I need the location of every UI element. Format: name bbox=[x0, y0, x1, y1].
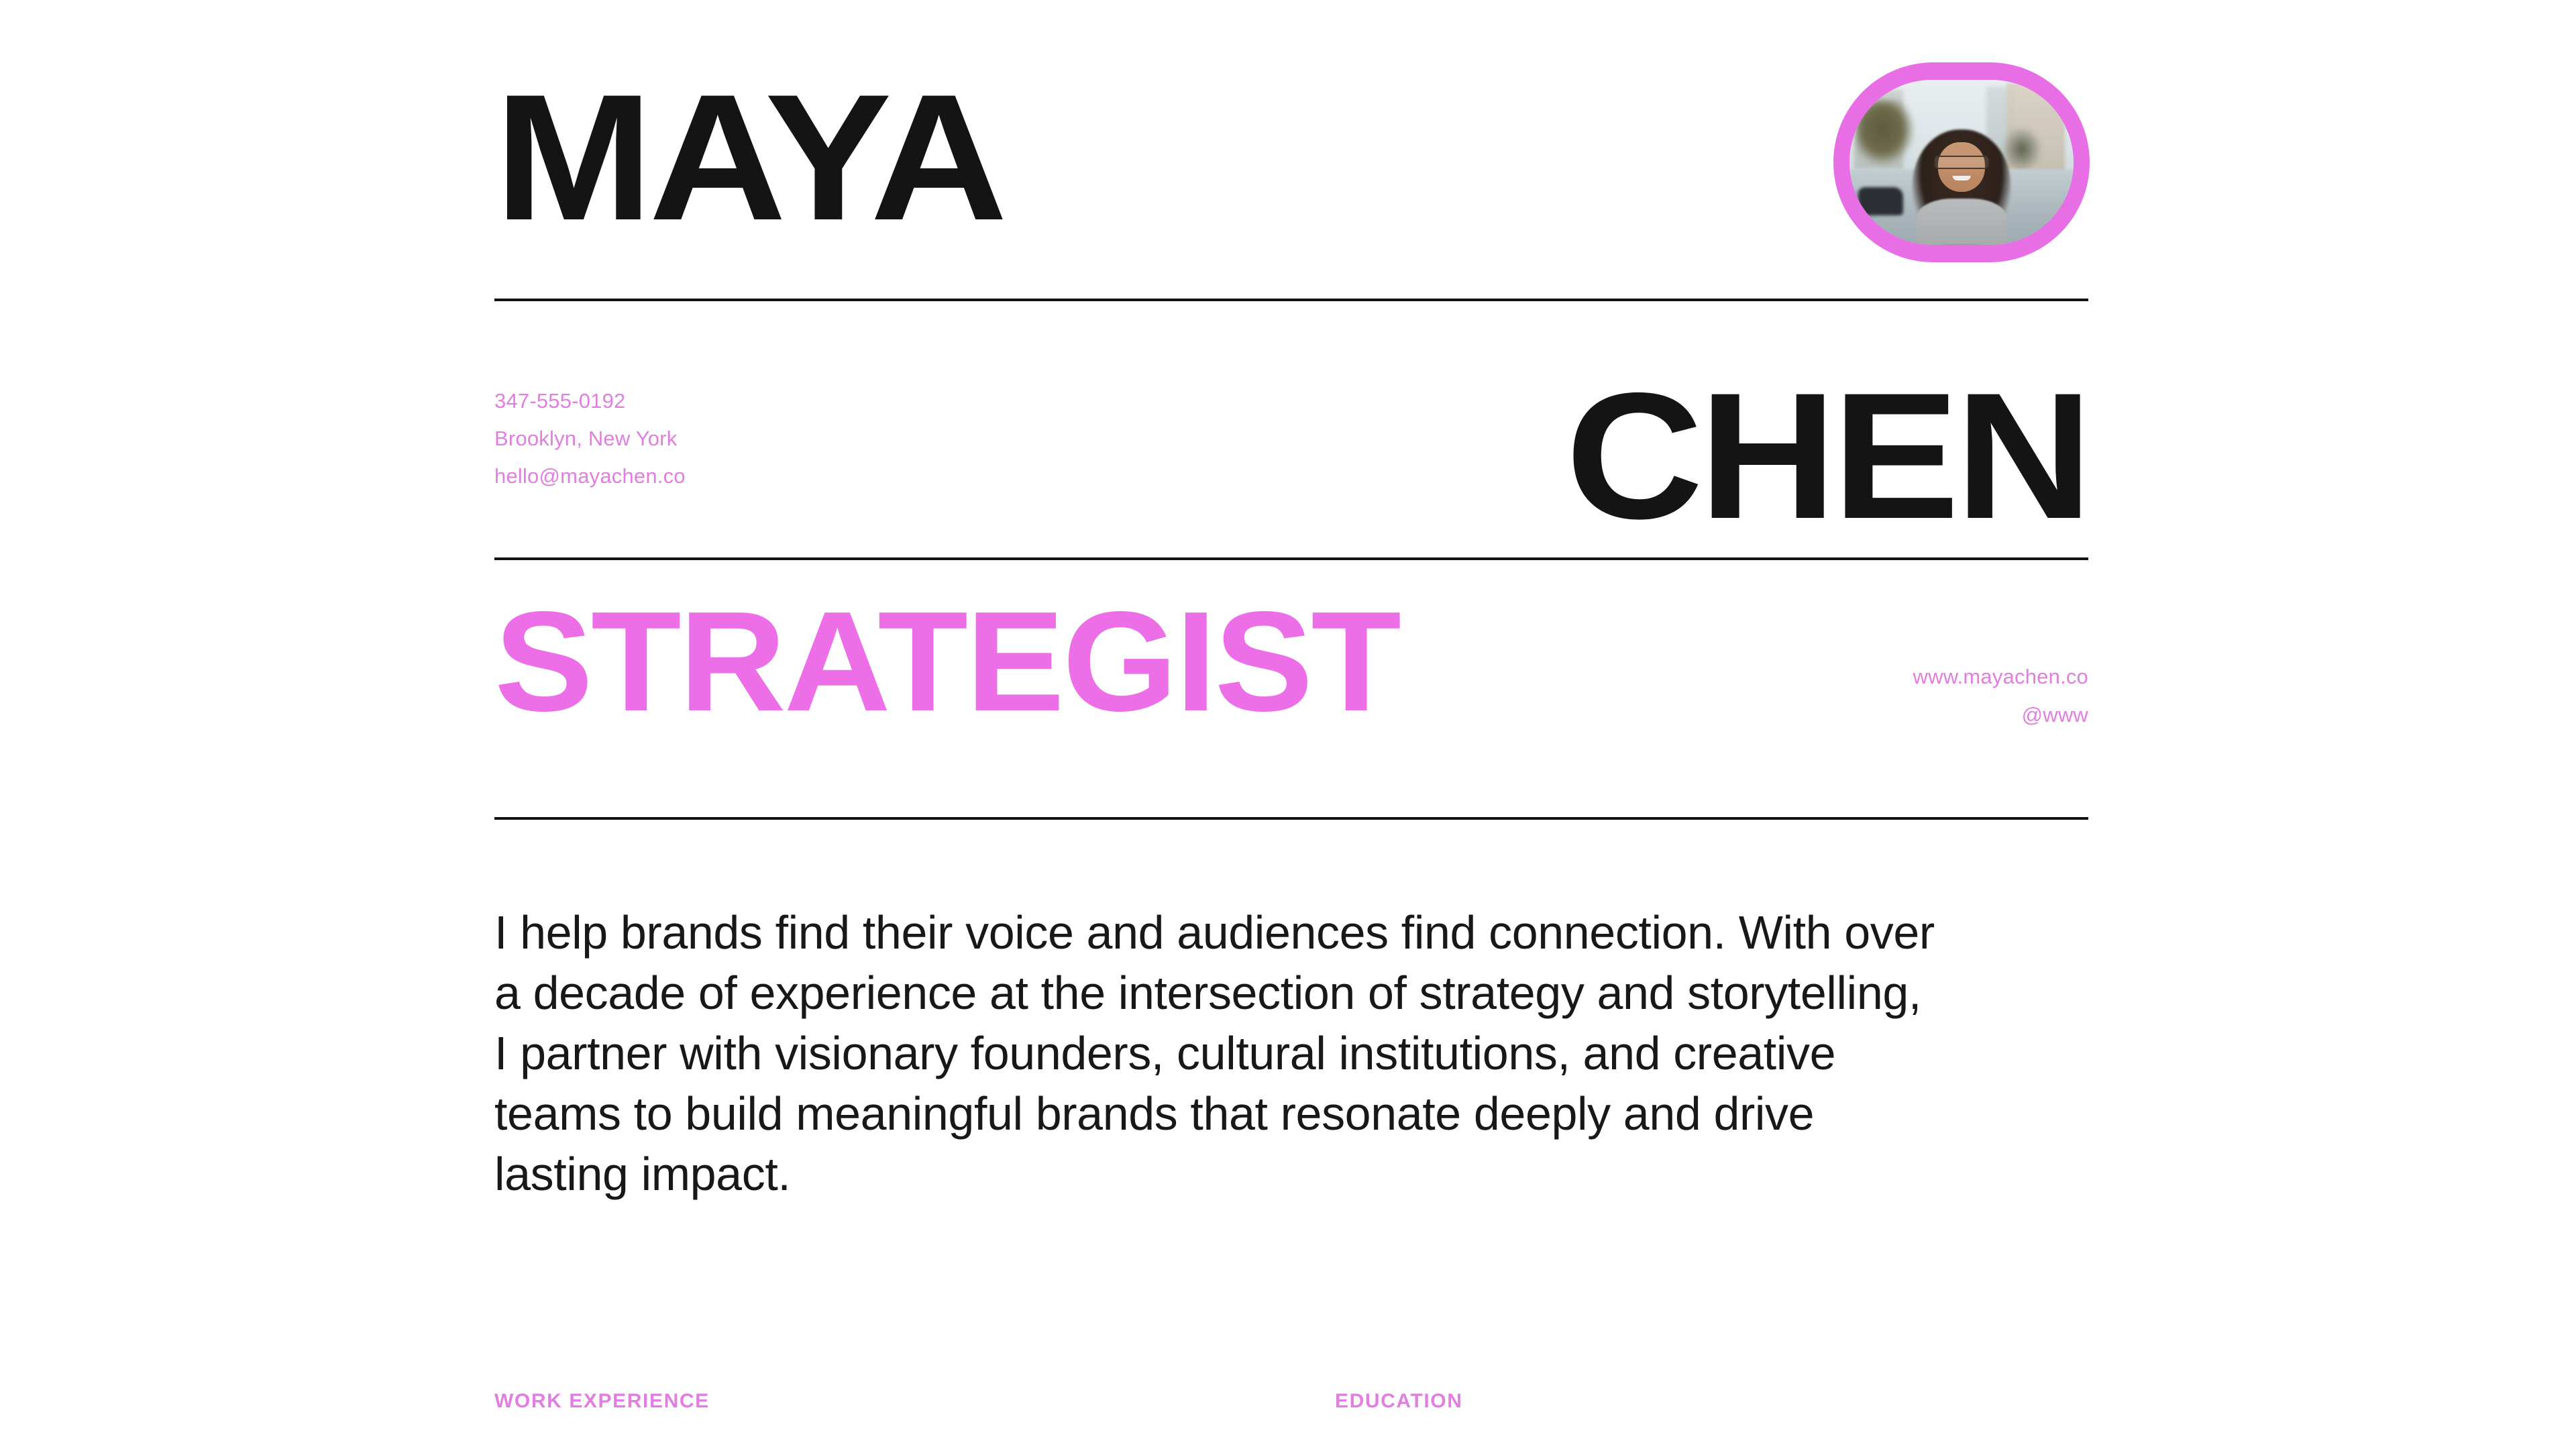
contact-location: Brooklyn, New York bbox=[494, 420, 686, 458]
divider-2 bbox=[494, 557, 2088, 560]
summary-line: lasting impact. bbox=[494, 1144, 2101, 1204]
photo-torso bbox=[1917, 199, 2006, 245]
contact-row: 347-555-0192 Brooklyn, New York hello@ma… bbox=[494, 372, 2088, 547]
resume-page: MAYA 347-555-0192 Brooklyn, New York h bbox=[0, 0, 2576, 1449]
glasses-icon bbox=[1935, 156, 1989, 169]
first-name-heading: MAYA bbox=[494, 67, 1004, 247]
link-website[interactable]: www.mayachen.co bbox=[1913, 657, 2088, 696]
photo-tree-right bbox=[2002, 126, 2042, 172]
summary-line: I help brands find their voice and audie… bbox=[494, 902, 2101, 963]
avatar[interactable] bbox=[1833, 62, 2090, 262]
contact-email[interactable]: hello@mayachen.co bbox=[494, 458, 686, 495]
divider-3 bbox=[494, 817, 2088, 820]
photo-tree-left bbox=[1856, 100, 1915, 166]
contact-phone[interactable]: 347-555-0192 bbox=[494, 382, 686, 420]
role-row: STRATEGIST www.mayachen.co @www bbox=[494, 590, 2088, 792]
photo-smile bbox=[1953, 176, 1971, 180]
section-label-education: EDUCATION bbox=[1335, 1388, 1463, 1415]
divider-1 bbox=[494, 299, 2088, 301]
summary-line: I partner with visionary founders, cultu… bbox=[494, 1023, 2101, 1083]
summary-line: teams to build meaningful brands that re… bbox=[494, 1083, 2101, 1144]
section-label-work-experience: WORK EXPERIENCE bbox=[494, 1388, 710, 1415]
avatar-photo bbox=[1849, 80, 2074, 245]
link-handle[interactable]: @www bbox=[1913, 696, 2088, 734]
photo-car-near bbox=[1858, 187, 1903, 215]
links-list: www.mayachen.co @www bbox=[1913, 657, 2088, 734]
contact-list: 347-555-0192 Brooklyn, New York hello@ma… bbox=[494, 382, 686, 495]
last-name-heading: CHEN bbox=[1565, 366, 2088, 545]
summary-line: a decade of experience at the intersecti… bbox=[494, 963, 2101, 1023]
section-labels: WORK EXPERIENCE EDUCATION bbox=[494, 1388, 2088, 1421]
summary-paragraph: I help brands find their voice and audie… bbox=[494, 902, 2101, 1204]
role-title: STRATEGIST bbox=[494, 590, 1399, 733]
